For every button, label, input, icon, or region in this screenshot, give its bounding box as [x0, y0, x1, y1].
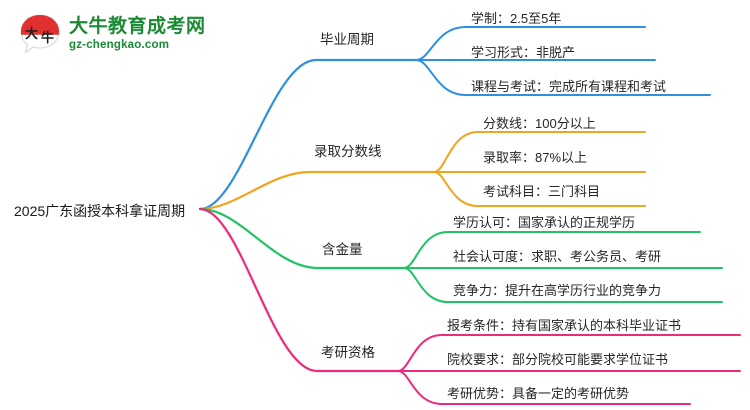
leaf-node-b3-c3[interactable]: 竞争力：提升在高学历行业的竞争力: [453, 280, 661, 299]
branch-node-postgrad-eligibility[interactable]: 考研资格: [321, 341, 375, 361]
branch-node-graduation-cycle[interactable]: 毕业周期: [320, 28, 374, 48]
leaf-node-b2-c3[interactable]: 考试科目：三门科目: [483, 181, 600, 200]
leaf-node-b4-c3[interactable]: 考研优势：具备一定的考研优势: [447, 383, 629, 402]
leaf-node-b1-c1[interactable]: 学制：2.5至5年: [471, 8, 561, 27]
root-node-label[interactable]: 2025广东函授本科拿证周期: [14, 201, 185, 221]
leaf-node-b4-c2[interactable]: 院校要求：部分院校可能要求学位证书: [447, 349, 668, 368]
leaf-node-b1-c2[interactable]: 学习形式：非脱产: [471, 42, 575, 61]
leaf-node-b2-c1[interactable]: 分数线：100分以上: [483, 113, 596, 132]
leaf-node-b3-c2[interactable]: 社会认可度：求职、考公务员、考研: [453, 246, 661, 265]
leaf-node-b3-c1[interactable]: 学历认可：国家承认的正规学历: [453, 212, 635, 231]
leaf-node-b4-c1[interactable]: 报考条件：持有国家承认的本科毕业证书: [447, 315, 681, 334]
leaf-node-b1-c3[interactable]: 课程与考试：完成所有课程和考试: [471, 76, 666, 95]
leaf-node-b2-c2[interactable]: 录取率：87%以上: [483, 147, 587, 166]
branch-node-admission-score[interactable]: 录取分数线: [314, 140, 382, 160]
branch-node-value[interactable]: 含金量: [322, 238, 363, 258]
